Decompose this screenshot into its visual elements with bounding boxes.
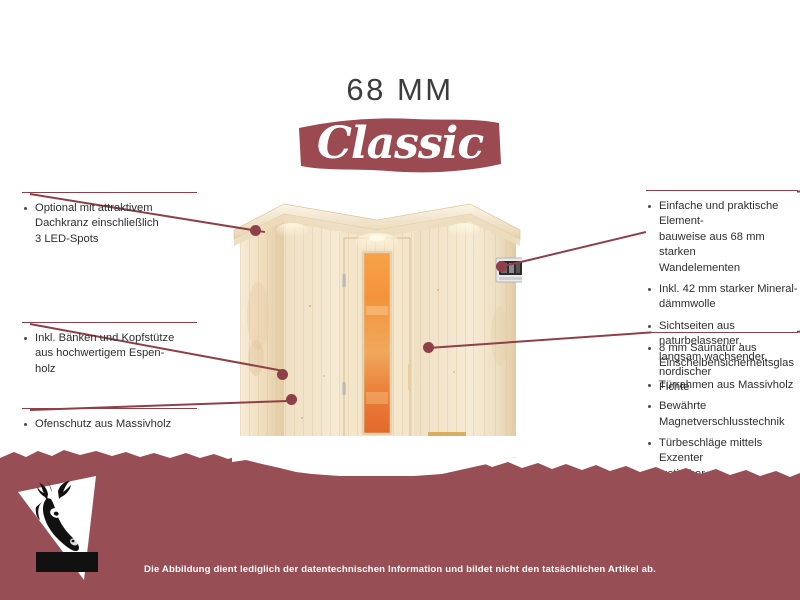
led-spot-right	[448, 223, 480, 237]
annotation-bullet: Ofenschutz aus Massivholz	[22, 417, 171, 432]
leader-dot-wall	[496, 261, 507, 272]
model-name: Classic	[296, 118, 504, 169]
sauna-left-wall	[240, 212, 284, 448]
sauna-front-left-panel	[284, 212, 340, 458]
annotation-benches: Inkl. Bänken und Kopfstütze aus hochwert…	[22, 322, 174, 383]
leader-dot-door	[423, 342, 434, 353]
door-hinge-upper	[343, 274, 346, 287]
disclaimer-text: Die Abbildung dient lediglich der datent…	[0, 564, 800, 575]
leader-dot-roof	[250, 225, 261, 236]
annotation-bullet: Einfache und praktische Element- bauweis…	[646, 199, 800, 276]
annotation-bullet: Inkl. Bänken und Kopfstütze aus hochwert…	[22, 331, 174, 377]
annotation-rule	[646, 190, 798, 191]
annotation-rule	[22, 408, 197, 409]
annotation-bullet: Optional mit attraktivem Dachkranz einsc…	[22, 201, 159, 247]
sauna-door-frame	[340, 232, 414, 458]
logo-wordmark-plate	[36, 552, 98, 572]
annotation-bullet: 8 mm Saunatür aus Einscheibensicherheits…	[646, 341, 800, 372]
annotation-bullet: Bewährte Magnetverschlusstechnik	[646, 399, 800, 430]
door-glass-pane	[363, 252, 391, 434]
annotation-rule	[22, 192, 197, 193]
annotation-roof-crown: Optional mit attraktivem Dachkranz einsc…	[22, 192, 159, 253]
infographic-canvas: 68 MM Classic Optional mit attraktivem D…	[0, 0, 800, 600]
led-spot-left	[276, 223, 308, 237]
band-cabin-notch	[232, 436, 524, 482]
annotation-bullet: Türrahmen aus Massivholz	[646, 378, 800, 393]
page-title-thickness: 68 MM	[0, 72, 800, 108]
door-hinge-lower	[343, 382, 346, 395]
karibu-logo[interactable]	[14, 472, 110, 584]
sauna-front-right-panel	[414, 212, 470, 458]
annotation-bullet: Inkl. 42 mm starker Mineral- dämmwolle	[646, 282, 800, 313]
model-badge: Classic	[296, 114, 504, 176]
logo-brand-text: Karibu	[30, 84, 78, 99]
annotation-rule	[646, 332, 798, 333]
sauna-right-wall	[470, 212, 516, 448]
leader-dot-bench	[277, 369, 288, 380]
annotation-rule	[22, 322, 197, 323]
annotation-oven-guard: Ofenschutz aus Massivholz	[22, 408, 171, 438]
leader-dot-oven	[286, 394, 297, 405]
door-handle	[408, 364, 411, 390]
